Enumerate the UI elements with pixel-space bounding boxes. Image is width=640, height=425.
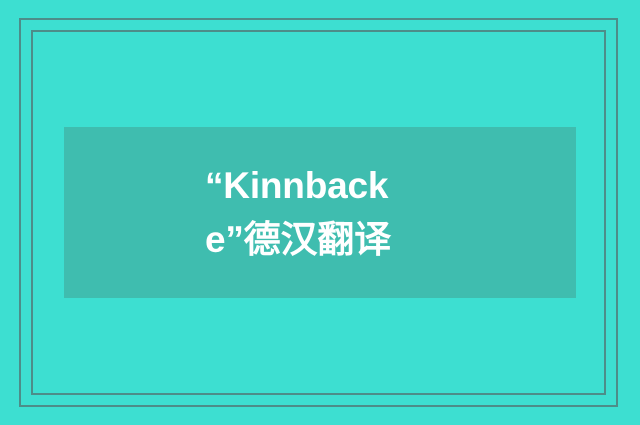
screenshot-root: “Kinnbacke”德汉翻译 xyxy=(0,0,640,425)
page-title: “Kinnbacke”德汉翻译 xyxy=(205,159,435,266)
title-card-panel: “Kinnbacke”德汉翻译 xyxy=(64,127,576,298)
